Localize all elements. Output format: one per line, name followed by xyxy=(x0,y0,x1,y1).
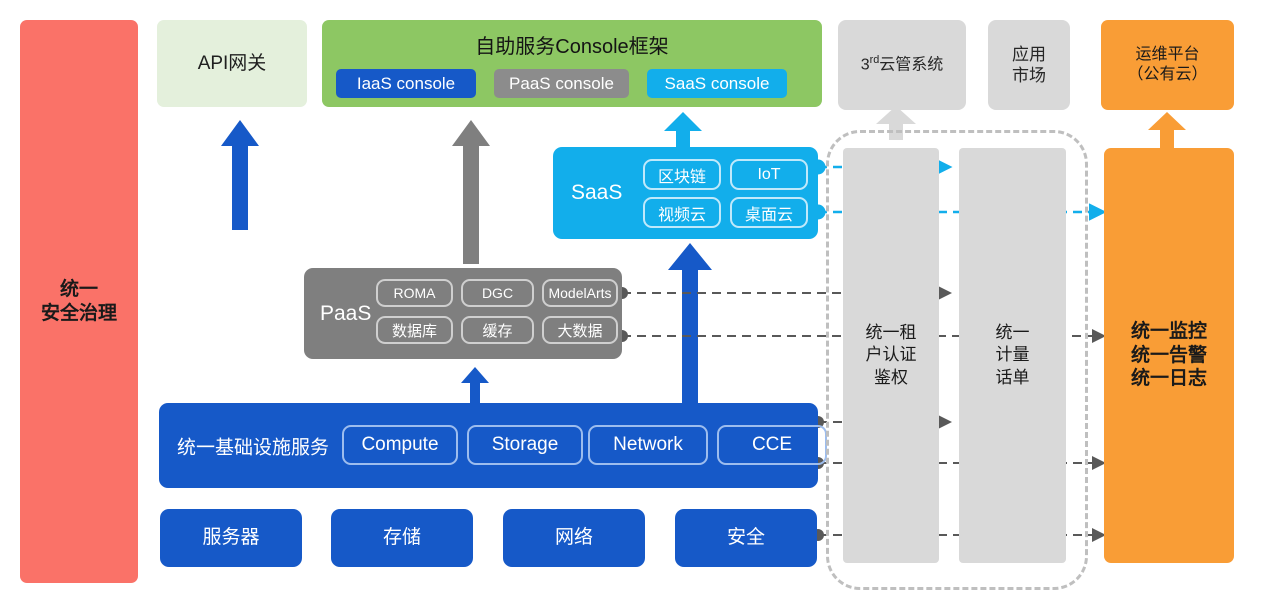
arrow-paas-to-console xyxy=(452,120,490,264)
app-market-box[interactable]: 应用 市场 xyxy=(988,20,1070,110)
unified-ops-panel[interactable]: 统一监控 统一告警 统一日志 xyxy=(1104,148,1234,563)
resource-box-server[interactable]: 服务器 xyxy=(160,509,302,567)
security-governance-panel[interactable]: 统一 安全治理 xyxy=(20,20,138,583)
arrow-api-gateway-up xyxy=(221,120,259,230)
infra-chip-network[interactable]: Network xyxy=(588,425,708,465)
third-party-cloud-mgmt-box[interactable]: 3rd云管系统 xyxy=(838,20,966,110)
paas-chip-bigdata[interactable]: 大数据 xyxy=(542,316,618,344)
arrow-ops-up xyxy=(1148,112,1186,148)
saas-layer-label: SaaS xyxy=(571,181,622,205)
saas-chip-iot[interactable]: IoT xyxy=(730,159,808,190)
infra-chip-compute[interactable]: Compute xyxy=(342,425,458,465)
unified-infrastructure-bar[interactable]: 统一基础设施服务 Compute Storage Network CCE xyxy=(159,403,818,488)
saas-chip-desktop-cloud[interactable]: 桌面云 xyxy=(730,197,808,228)
iaas-console-chip[interactable]: IaaS console xyxy=(336,69,476,98)
saas-chip-video-cloud[interactable]: 视频云 xyxy=(643,197,721,228)
ops-platform-box[interactable]: 运维平台 （公有云） xyxy=(1101,20,1234,110)
resource-box-network[interactable]: 网络 xyxy=(503,509,645,567)
arrow-infra-to-paas xyxy=(461,367,489,403)
architecture-diagram: 统一 安全治理 API网关 自助服务Console框架 IaaS console… xyxy=(0,0,1265,605)
arrow-infra-to-saas xyxy=(668,243,712,404)
self-service-console-frame[interactable]: 自助服务Console框架 IaaS console PaaS console … xyxy=(322,20,822,107)
infra-chip-cce[interactable]: CCE xyxy=(717,425,827,465)
arrow-saas-to-console xyxy=(664,112,702,148)
paas-layer[interactable]: PaaS ROMA DGC ModelArts 数据库 缓存 大数据 xyxy=(304,268,622,359)
infra-chip-storage[interactable]: Storage xyxy=(467,425,583,465)
resource-box-security[interactable]: 安全 xyxy=(675,509,817,567)
resource-box-storage[interactable]: 存储 xyxy=(331,509,473,567)
unified-infrastructure-label: 统一基础设施服务 xyxy=(177,432,329,459)
paas-chip-database[interactable]: 数据库 xyxy=(376,316,453,344)
paas-chip-roma[interactable]: ROMA xyxy=(376,279,453,307)
saas-layer[interactable]: SaaS 区块链 IoT 视频云 桌面云 xyxy=(553,147,818,239)
paas-chip-modelarts[interactable]: ModelArts xyxy=(542,279,618,307)
saas-console-chip[interactable]: SaaS console xyxy=(647,69,787,98)
paas-chip-cache[interactable]: 缓存 xyxy=(461,316,534,344)
console-frame-title: 自助服务Console框架 xyxy=(322,30,822,59)
api-gateway-box[interactable]: API网关 xyxy=(157,20,307,107)
shared-service-auth-column[interactable]: 统一租 户认证 鉴权 xyxy=(843,148,939,563)
third-party-label: 3rd云管系统 xyxy=(861,54,944,75)
paas-chip-dgc[interactable]: DGC xyxy=(461,279,534,307)
saas-chip-blockchain[interactable]: 区块链 xyxy=(643,159,721,190)
shared-service-metering-column[interactable]: 统一 计量 话单 xyxy=(959,148,1066,563)
paas-layer-label: PaaS xyxy=(320,302,371,326)
paas-console-chip[interactable]: PaaS console xyxy=(494,69,629,98)
